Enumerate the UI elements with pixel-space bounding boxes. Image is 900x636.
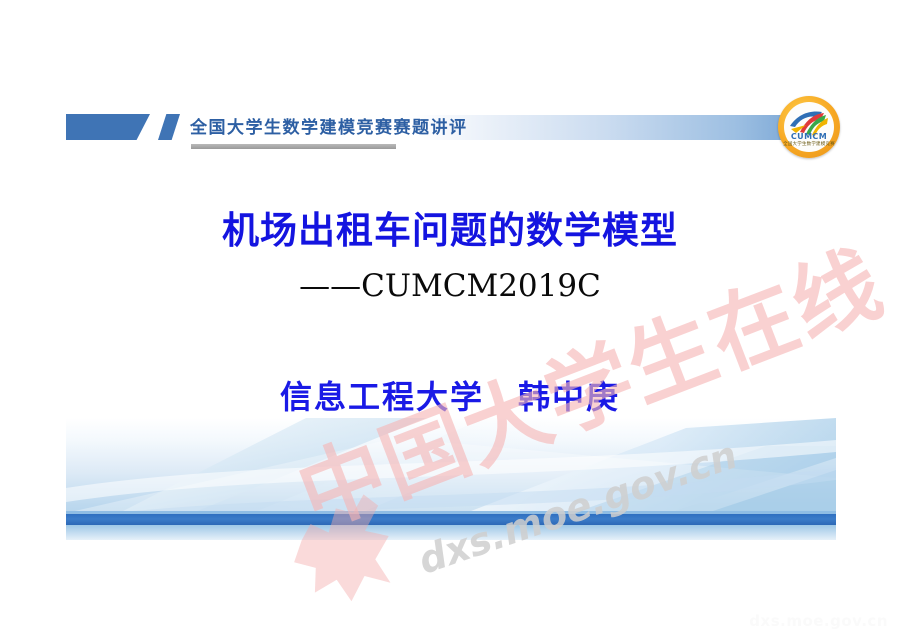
cumcm-logo: CUMCM 全国大学生数学建模竞赛 <box>778 96 840 158</box>
header-banner: 全国大学生数学建模竞赛赛题讲评 <box>66 112 836 146</box>
bottom-decorative-band <box>66 418 836 540</box>
header-accent-block <box>66 114 150 140</box>
header-gradient-strip <box>416 115 826 140</box>
page-title: 机场出租车问题的数学模型 <box>0 200 900 254</box>
page-subtitle: ——CUMCM2019C <box>0 268 900 304</box>
header-accent-slash <box>158 114 180 140</box>
band-accent-bar <box>66 514 836 525</box>
author-line: 信息工程大学 韩中庚 <box>0 372 900 418</box>
header-banner-text: 全国大学生数学建模竞赛赛题讲评 <box>190 112 468 146</box>
corner-url-text: dxs.moe.gov.cn <box>749 612 888 630</box>
logo-wordmark: CUMCM <box>778 132 840 141</box>
band-footer-strip <box>66 525 836 540</box>
header-underline <box>191 144 396 149</box>
watermark-overlay: 中国大学生在线 dxs.moe.gov.cn <box>0 0 900 636</box>
slide-canvas: 全国大学生数学建模竞赛赛题讲评 CUMCM 全国大学生数学建模竞赛 机场出租车问… <box>0 0 900 636</box>
logo-ring-text: 全国大学生数学建模竞赛 <box>778 141 840 147</box>
